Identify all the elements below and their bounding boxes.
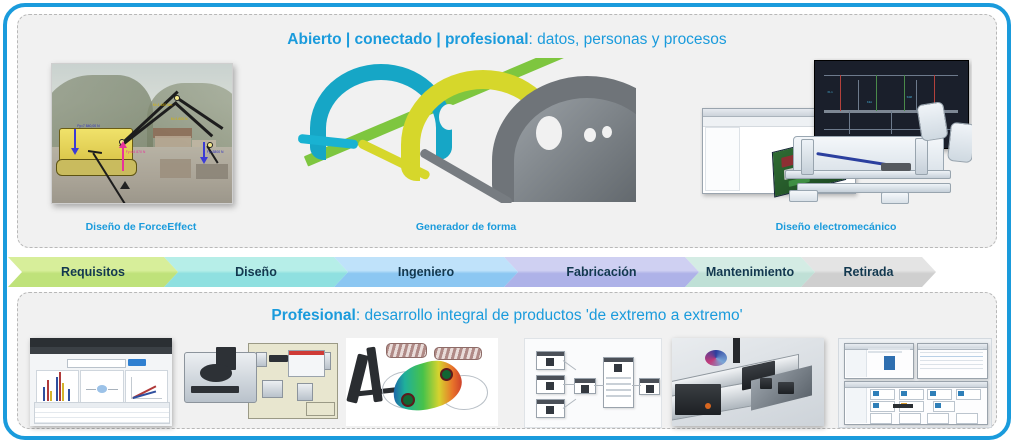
- bracket-hole-gray-1: [536, 116, 562, 150]
- workflow-node-output: [639, 378, 660, 395]
- node-row: [606, 389, 631, 391]
- plm-preview-item: [884, 356, 895, 370]
- generative-shape-brackets-render: [296, 58, 636, 203]
- process-step-ingeniero[interactable]: Ingeniero: [334, 257, 518, 287]
- node-icon: [546, 406, 554, 414]
- force-label-pink: Fy=64 870 N: [126, 150, 146, 154]
- node-header: [537, 400, 564, 404]
- schematic-label-1: X1.1: [827, 91, 832, 94]
- seat-recliner-arm-right: [947, 121, 972, 162]
- schematic-wire-green-1: [876, 75, 877, 112]
- dashboard-search-field[interactable]: [67, 359, 126, 368]
- cad-dialog-titlebar: [289, 351, 324, 355]
- plm-window-details: [917, 343, 989, 378]
- dashboard-card-line-chart: [125, 370, 168, 406]
- process-step-retirada[interactable]: Retirada: [801, 257, 936, 287]
- plm-workflow-card: [956, 413, 978, 423]
- seat-rail-rear: [797, 183, 951, 193]
- plm-data-management-thumbnail: [838, 338, 992, 428]
- process-step-label-2: Ingeniero: [398, 265, 454, 279]
- process-step-label-4: Mantenimiento: [706, 265, 794, 279]
- plm-card-icon: [935, 403, 940, 408]
- pcb-window-tree-panel: [705, 127, 740, 191]
- node-icon: [581, 385, 589, 393]
- caption-forceeffect: Diseño de ForceEffect: [51, 221, 231, 233]
- bar-6: [62, 383, 64, 401]
- schematic-wire-1: [858, 80, 859, 110]
- seat-recliner-arm-left: [916, 101, 948, 142]
- plm-workflow-tree: [846, 388, 867, 423]
- node-header: [537, 376, 564, 380]
- plm-workflow-connector: [893, 404, 913, 408]
- workflow-node-merge: [574, 378, 596, 394]
- cad-view-left: [256, 352, 267, 367]
- fea-bolt-hole-1: [401, 393, 415, 407]
- workflow-node-input-3: [536, 399, 565, 418]
- bottom-panel-title-rest: : desarrollo integral de productos 'de e…: [356, 307, 743, 324]
- plm-card-icon: [873, 403, 879, 408]
- plm-workflow-card: [899, 413, 921, 423]
- schematic-wire-red-1: [840, 75, 841, 112]
- web-dashboard-reports-thumbnail: [30, 338, 172, 426]
- seat-motor-module: [881, 163, 911, 171]
- bar-5: [59, 372, 61, 401]
- machine-fixture-block: [675, 384, 721, 416]
- workflow-link-2: [563, 384, 575, 385]
- plm-workflow-card: [870, 389, 895, 400]
- top-panel-title: Abierto | conectado | profesional: datos…: [18, 31, 996, 49]
- flow-node: [97, 385, 107, 392]
- schematic-wire-2: [916, 80, 917, 110]
- machine-spindle-tool: [733, 338, 741, 363]
- node-row: [606, 395, 631, 397]
- schematic-label-3: S3M: [907, 96, 912, 99]
- bracket-arc-gray: [492, 76, 636, 202]
- electromechanical-seat-pcb-schematic: X1.1 K2A S3M M1: [700, 58, 972, 208]
- process-step-mantenimiento[interactable]: Mantenimiento: [685, 257, 815, 287]
- cad-view-front: [262, 380, 283, 398]
- top-panel-title-strong: Abierto | conectado | profesional: [287, 31, 528, 48]
- process-step-label-5: Retirada: [843, 265, 893, 279]
- plm-workflow-card: [933, 401, 955, 412]
- node-row: [606, 377, 631, 379]
- product-lifecycle-process-bar: Requisitos Diseño Ingeniero Fabricación …: [8, 257, 1006, 287]
- node-icon: [614, 364, 622, 372]
- bottom-panel-title: Profesional: desarrollo integral de prod…: [18, 307, 996, 325]
- plm-text-line: [868, 348, 910, 350]
- cnc-machining-setup-thumbnail: [672, 338, 824, 426]
- fea-spring-coil: [434, 347, 482, 360]
- workflow-node-input-1: [536, 351, 565, 370]
- plm-text-line: [920, 348, 983, 350]
- node-header: [575, 379, 595, 383]
- photo-debris-2: [160, 159, 191, 178]
- ground-support-triangle: [120, 181, 130, 189]
- workflow-node-process: [603, 357, 635, 408]
- moment-label-2: M=1 600 N: [171, 117, 188, 121]
- bottom-panel-title-strong: Profesional: [271, 307, 355, 324]
- part-detail-1: [760, 378, 772, 389]
- schematic-bus-1: [824, 75, 958, 76]
- line-axis-y: [131, 377, 132, 399]
- node-header: [604, 358, 634, 362]
- cad-assembly-drawing-thumbnail: [178, 338, 338, 426]
- force-label-left: Fy=7 840,00 N: [77, 124, 99, 128]
- flow-link-right: [108, 389, 119, 390]
- bar-3: [50, 391, 52, 401]
- dashboard-results-table: [34, 402, 169, 424]
- dashboard-card-flow: [80, 370, 123, 406]
- plm-workflow-card: [870, 401, 895, 412]
- plm-text-line: [920, 368, 983, 370]
- node-icon: [546, 358, 554, 366]
- part-detail-2: [778, 382, 793, 394]
- plm-workflow-card: [927, 413, 949, 423]
- process-step-label-0: Requisitos: [61, 265, 125, 279]
- dashboard-header-bar: [30, 338, 172, 347]
- node-icon: [546, 382, 554, 390]
- force-label-right: Fy=3800 N: [207, 150, 224, 154]
- plm-card-icon: [930, 391, 936, 396]
- plm-card-icon: [958, 391, 964, 396]
- node-header: [537, 352, 564, 356]
- fea-stress-simulation-thumbnail: [346, 338, 498, 426]
- line-axis-x: [131, 398, 162, 399]
- plm-window-workflow: [844, 381, 989, 425]
- process-step-label-1: Diseño: [235, 265, 277, 279]
- plm-workflow-card: [927, 389, 952, 400]
- plm-text-line: [920, 352, 983, 354]
- plm-text-line: [920, 360, 983, 362]
- bracket-hole-gray-2: [584, 128, 596, 142]
- bar-2: [47, 380, 49, 401]
- plm-tree-panel: [846, 350, 868, 376]
- caption-electromechanical: Diseño electromecánico: [700, 221, 972, 233]
- seat-crossmember-right: [915, 138, 928, 175]
- process-step-requisitos[interactable]: Requisitos: [8, 257, 178, 287]
- seat-mount-foot-left: [789, 190, 818, 202]
- photo-debris-3: [196, 164, 228, 179]
- workflow-link-5: [632, 385, 640, 386]
- moment-label-1: M=1 480 Nm: [153, 103, 173, 107]
- excavator-force-analysis-photo: Fy=7 840,00 N Fy=3800 N Fy=64 870 N M=1 …: [51, 63, 233, 204]
- workflow-node-input-2: [536, 375, 565, 394]
- bracket-hole-yellow-2: [473, 110, 489, 130]
- dashboard-search-button[interactable]: [128, 359, 146, 366]
- node-icon: [646, 385, 654, 393]
- joint-pin-c: [207, 142, 213, 148]
- process-step-label-3: Fabricación: [566, 265, 636, 279]
- bar-1: [43, 387, 45, 401]
- process-workflow-diagram-thumbnail: [524, 338, 662, 428]
- bar-4: [56, 377, 58, 401]
- cad-properties-dialog: [288, 350, 325, 377]
- bar-7: [68, 389, 70, 401]
- flow-link-left: [86, 389, 97, 390]
- bracket-final-metal: [492, 76, 636, 180]
- plm-workflow-card: [956, 389, 981, 400]
- force-vector-blue-left: [74, 129, 76, 149]
- seat-mount-foot-right: [881, 192, 910, 204]
- plm-text-line: [920, 364, 983, 366]
- slide-canvas: Abierto | conectado | profesional: datos…: [0, 0, 1014, 443]
- node-row: [606, 383, 631, 385]
- dashboard-menu-bar: [30, 347, 172, 354]
- seat-frame-3d-model: [782, 121, 972, 205]
- dashboard-card-bar-chart: [36, 370, 79, 406]
- joint-pin-b: [174, 95, 180, 101]
- node-header: [640, 379, 659, 383]
- plm-card-icon: [873, 391, 879, 396]
- bracket-hole-yellow-1: [439, 104, 459, 130]
- schematic-label-2: K2A: [867, 101, 872, 104]
- cad-drawing-sheet: [248, 343, 338, 419]
- schematic-wire-green-2: [904, 75, 905, 112]
- caption-shape-generator: Generador de forma: [356, 221, 576, 233]
- cad-view-section: [297, 383, 313, 401]
- plm-card-icon: [901, 391, 907, 396]
- plm-row-selected: [920, 356, 983, 358]
- fea-shock-absorber: [386, 343, 428, 358]
- plm-workflow-card: [870, 413, 892, 423]
- force-vector-blue-right: [203, 142, 205, 158]
- process-step-fabricacion[interactable]: Fabricación: [504, 257, 699, 287]
- plm-window-properties: [844, 343, 914, 378]
- cad-title-block: [306, 402, 334, 416]
- table-row: [35, 418, 168, 423]
- plm-workflow-card: [899, 389, 924, 400]
- force-vector-pink: [122, 147, 124, 171]
- workflow-link-4: [594, 385, 604, 386]
- cad-assembly-base: [191, 386, 239, 393]
- process-step-diseno[interactable]: Diseño: [164, 257, 348, 287]
- cad-view-top: [269, 355, 288, 362]
- seat-crossmember-left: [801, 139, 814, 175]
- top-panel-title-rest: : datos, personas y procesos: [529, 31, 727, 48]
- bracket-hole-gray-3: [602, 126, 612, 138]
- plm-text-line: [868, 351, 902, 353]
